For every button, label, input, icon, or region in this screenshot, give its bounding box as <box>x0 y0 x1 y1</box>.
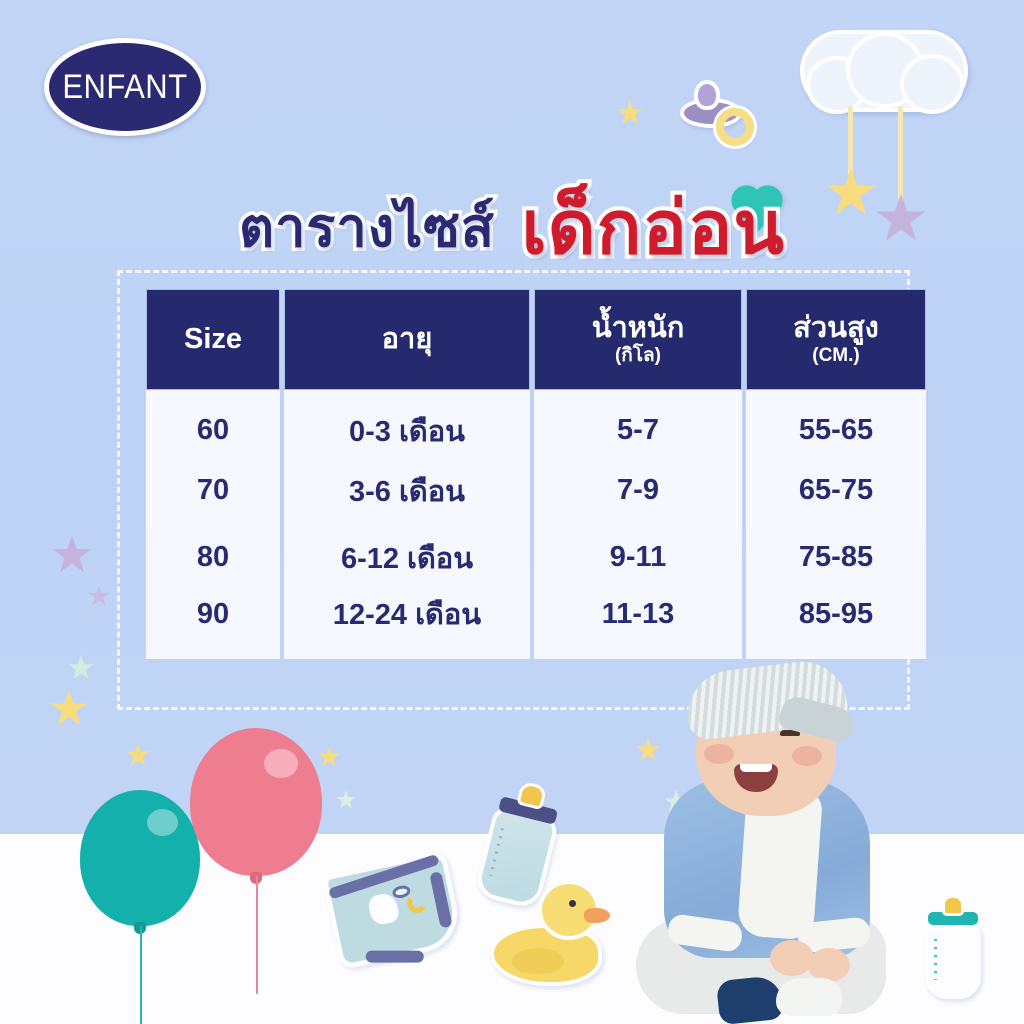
pacifier-nub <box>694 80 720 110</box>
star-icon-yellow-left-large <box>50 690 88 728</box>
page-title-main: ตารางไซส์ <box>239 184 495 270</box>
cell-weight: 11-13 <box>534 591 742 659</box>
rubber-duck-icon <box>490 880 608 986</box>
baby-cheek-right <box>792 746 822 766</box>
bottle-teat-right <box>942 895 964 916</box>
cell-weight: 9-11 <box>534 524 742 591</box>
balloon-pink <box>190 728 322 876</box>
bottle-measure-ticks-right <box>934 939 937 981</box>
balloon-pink-body <box>190 728 322 876</box>
balloon-pink-string <box>256 876 258 994</box>
pacifier-icon <box>680 80 758 152</box>
baby-hand-right <box>808 948 850 982</box>
cell-height: 85-95 <box>746 591 926 659</box>
star-icon-mint-near-bib <box>336 790 356 810</box>
star-icon-purple-left-small <box>88 585 110 607</box>
cell-height: 75-85 <box>746 524 926 591</box>
page-title-accent: เด็กอ่อน <box>521 168 785 286</box>
logo-oval: ENFANT <box>44 38 206 136</box>
balloon-teal <box>80 790 200 926</box>
column-header-height: ส่วนสูง (CM.) <box>746 289 926 390</box>
column-header-height-unit: (CM.) <box>747 346 925 366</box>
star-icon-yellow-left-lower <box>126 743 150 767</box>
table-row: 70 3-6 เดือน 7-9 65-75 <box>146 457 926 524</box>
table-row: 90 12-24 เดือน 11-13 85-95 <box>146 591 926 659</box>
balloon-teal-body <box>80 790 200 926</box>
duck-wing <box>512 948 564 974</box>
size-chart-poster: ENFANT ตารางไซส์ เด็กอ่อน <box>0 0 1024 1024</box>
cell-age: 6-12 เดือน <box>284 524 530 591</box>
star-icon-purple-left-large <box>52 535 92 575</box>
duck-eye <box>569 900 576 907</box>
column-header-size: Size <box>146 289 280 390</box>
pacifier-ring <box>716 108 754 146</box>
cell-size: 70 <box>146 457 280 524</box>
baby-cheek-left <box>704 744 734 764</box>
baby-bottle-icon-right <box>925 895 981 999</box>
baby-shoe-white <box>776 978 842 1016</box>
cell-age: 0-3 เดือน <box>284 390 530 457</box>
cell-weight: 7-9 <box>534 457 742 524</box>
brand-logo: ENFANT <box>44 38 206 136</box>
duck-beak <box>584 908 610 923</box>
column-header-age: อายุ <box>284 289 530 390</box>
cell-size: 90 <box>146 591 280 659</box>
baby-teeth <box>740 764 772 772</box>
stroller-wheel <box>366 951 424 963</box>
cell-age: 3-6 เดือน <box>284 457 530 524</box>
cell-age: 12-24 เดือน <box>284 591 530 659</box>
logo-text: ENFANT <box>62 67 187 107</box>
balloon-teal-string <box>140 926 142 1024</box>
cell-height: 55-65 <box>746 390 926 457</box>
cell-height: 65-75 <box>746 457 926 524</box>
mobile-cloud-puff-right <box>900 54 964 114</box>
baby-hand-left <box>770 940 814 976</box>
table-row: 80 6-12 เดือน 9-11 75-85 <box>146 524 926 591</box>
cell-size: 60 <box>146 390 280 457</box>
page-title: ตารางไซส์ เด็กอ่อน <box>0 168 1024 286</box>
star-icon-yellow-small-top <box>617 100 643 126</box>
table-row: 60 0-3 เดือน 5-7 55-65 <box>146 390 926 457</box>
star-icon-mint-left <box>68 655 94 681</box>
baby-photo <box>630 672 930 1024</box>
mobile-string-left <box>848 106 853 176</box>
column-header-weight-unit: (กิโล) <box>535 346 741 366</box>
table-header-row: Size อายุ น้ำหนัก (กิโล) ส่วนสูง (CM.) <box>146 289 926 390</box>
column-header-weight: น้ำหนัก (กิโล) <box>534 289 742 390</box>
cell-weight: 5-7 <box>534 390 742 457</box>
cell-size: 80 <box>146 524 280 591</box>
size-table: Size อายุ น้ำหนัก (กิโล) ส่วนสูง (CM.) 6… <box>142 289 930 659</box>
